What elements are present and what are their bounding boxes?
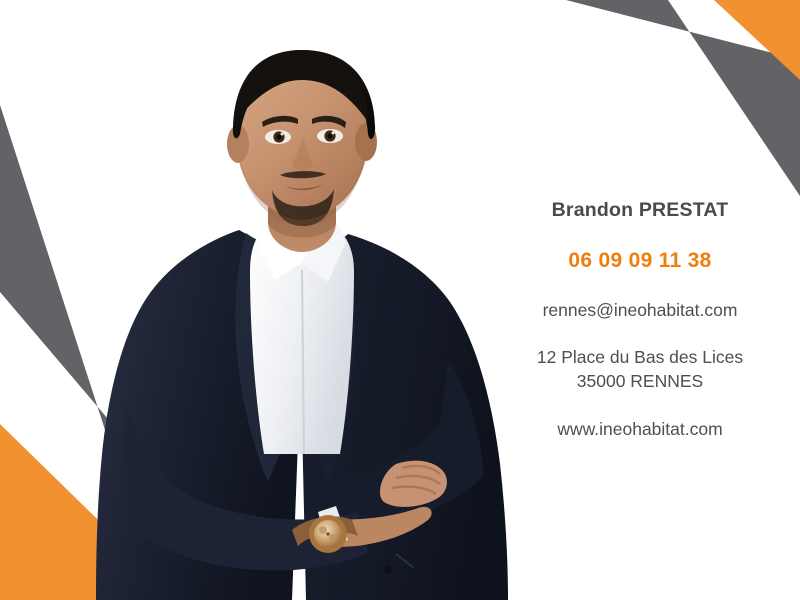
business-card: Brandon PRESTAT 06 09 09 11 38 rennes@in… [0,0,800,600]
pupil-right [327,133,332,138]
gray-diagonal-band-top-right [566,0,800,196]
eye-glint-right [332,132,335,135]
watch-subdial-1 [319,526,327,534]
pupil-left [276,134,281,139]
contact-email[interactable]: rennes@ineohabitat.com [492,300,788,322]
contact-address: 12 Place du Bas des Lices 35000 RENNES [492,346,788,392]
eye-glint-left [281,133,284,136]
contact-name: Brandon PRESTAT [492,198,788,222]
address-line-2: 35000 RENNES [492,370,788,393]
contact-phone[interactable]: 06 09 09 11 38 [492,248,788,273]
orange-corner-wedge-top-right [714,0,800,80]
suit-button [384,566,392,574]
watch-subdial-2 [329,534,337,542]
address-line-1: 12 Place du Bas des Lices [492,346,788,369]
portrait-photo [96,34,516,600]
contact-website[interactable]: www.ineohabitat.com [492,419,788,441]
contact-details: Brandon PRESTAT 06 09 09 11 38 rennes@in… [492,198,788,441]
watch-center [326,532,329,535]
